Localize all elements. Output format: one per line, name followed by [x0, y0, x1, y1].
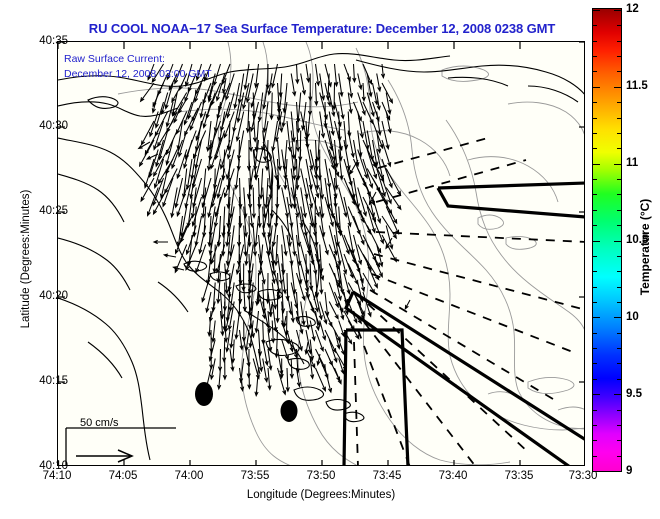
x-tick-6: 73:40	[439, 470, 468, 482]
annotation-block: Raw Surface Current: December 12, 2008 0…	[64, 52, 212, 82]
scale-bar	[66, 428, 176, 465]
colorbar-tick-0: 12	[626, 3, 639, 15]
colorbar-tick-2: 11	[626, 157, 638, 169]
shipping-lanes	[344, 183, 584, 465]
colorbar-tick-6: 9	[626, 465, 632, 477]
y-tick-0: 40:35	[39, 35, 68, 47]
colorbar-tick-1: 11.5	[626, 80, 648, 92]
x-axis-label: Longitude (Degrees:Minutes)	[57, 489, 585, 501]
y-tick-4: 40:15	[39, 375, 68, 387]
x-tick-2: 74:00	[175, 470, 204, 482]
x-tick-1: 74:05	[109, 470, 138, 482]
scale-bar-label: 50 cm/s	[80, 417, 119, 429]
map-clip	[58, 42, 584, 465]
x-tick-3: 73:55	[241, 470, 270, 482]
y-tick-2: 40:25	[39, 205, 68, 217]
colorbar	[592, 8, 622, 472]
figure-title: RU COOL NOAA−17 Sea Surface Temperature:…	[57, 21, 587, 36]
y-tick-1: 40:30	[39, 120, 68, 132]
station-markers	[195, 382, 298, 422]
annotation-line-2: December 12, 2008 03:00 GMT	[64, 67, 212, 82]
colorbar-label: Temperature (°C)	[638, 147, 652, 347]
annotation-line-1: Raw Surface Current:	[64, 52, 212, 67]
sst-map-figure: RU COOL NOAA−17 Sea Surface Temperature:…	[0, 0, 660, 519]
x-tick-5: 73:45	[373, 470, 402, 482]
y-tick-3: 40:20	[39, 290, 68, 302]
colorbar-tick-5: 9.5	[626, 388, 642, 400]
map-plot-area: Raw Surface Current: December 12, 2008 0…	[57, 41, 585, 466]
x-tick-0: 74:10	[43, 470, 72, 482]
x-tick-7: 73:35	[505, 470, 534, 482]
map-graphics	[58, 42, 584, 465]
x-tick-4: 73:50	[307, 470, 336, 482]
surface-current-vectors	[139, 64, 410, 396]
colorbar-tick-4: 10	[626, 311, 639, 323]
y-axis-label: Latitude (Degrees:Minutes)	[20, 139, 32, 379]
